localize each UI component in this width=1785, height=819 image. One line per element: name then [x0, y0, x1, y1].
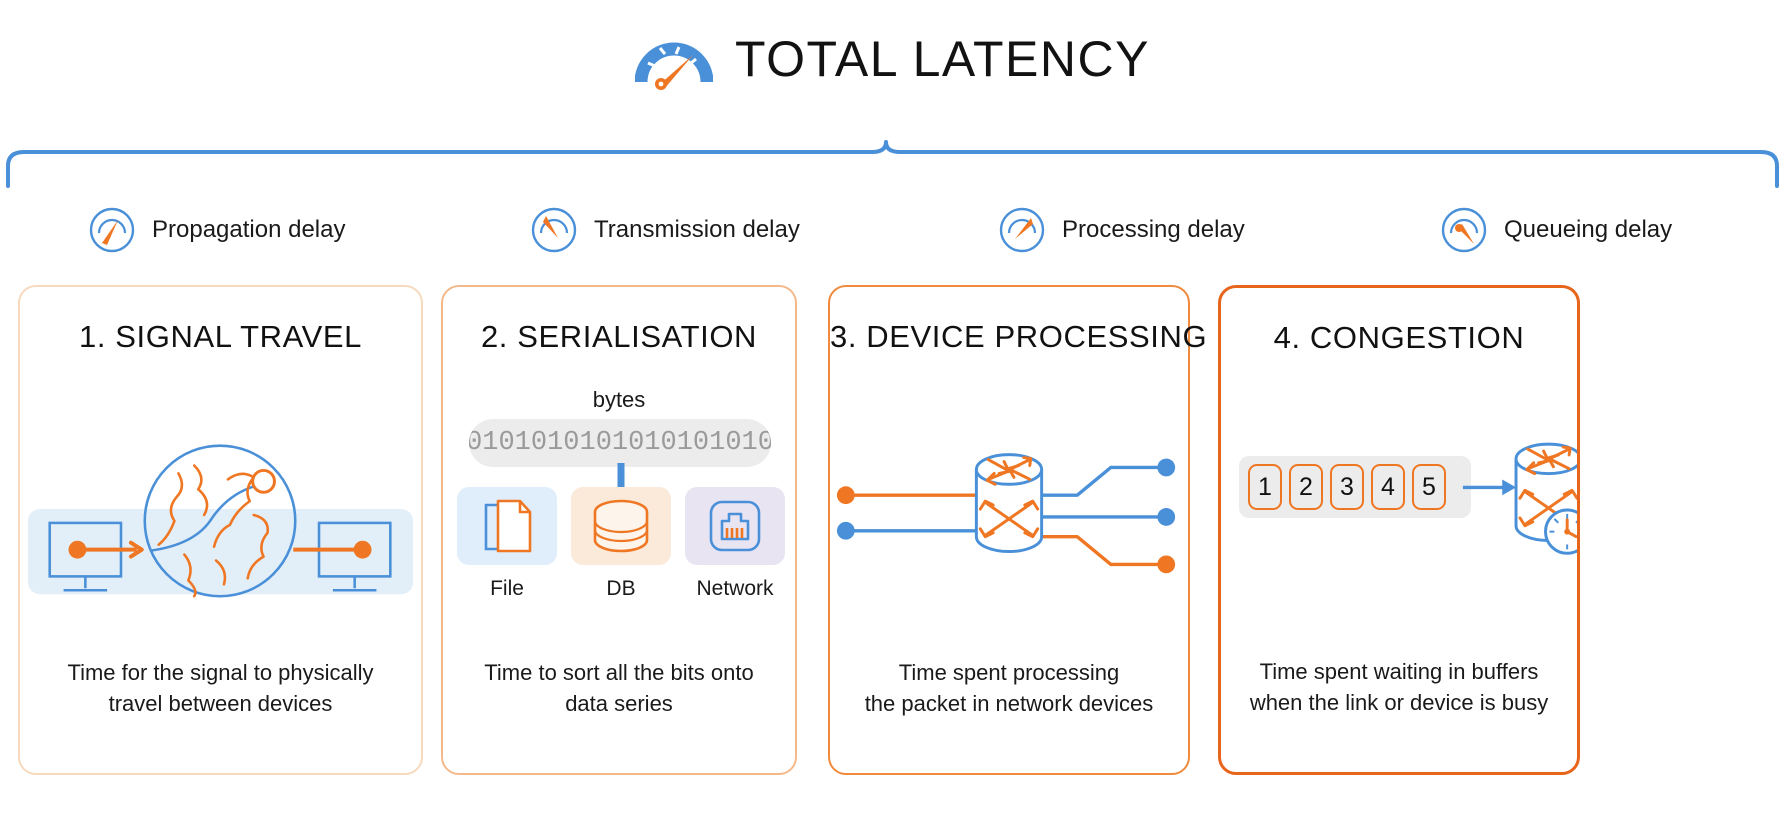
gauge-icon — [1440, 206, 1488, 254]
card-description: Time to sort all the bits ontodata serie… — [443, 657, 795, 719]
delay-item-queueing[interactable]: Queueing delay — [1440, 202, 1672, 258]
tile-box — [685, 487, 785, 565]
tile-box — [457, 487, 557, 565]
card-device-processing[interactable]: 3. DEVICE PROCESSING — [828, 285, 1190, 775]
tile-network[interactable]: Network — [685, 487, 785, 601]
tile-label: Network — [685, 577, 785, 601]
card-serialisation[interactable]: 2. SERIALISATION bytes 01010101010101010… — [441, 285, 797, 775]
document-icon — [480, 495, 534, 557]
tile-box — [571, 487, 671, 565]
page-header: TOTAL LATENCY — [0, 28, 1785, 90]
card-title: 4. CONGESTION — [1221, 320, 1577, 356]
gauge-icon — [88, 206, 136, 254]
card-title: 2. SERIALISATION — [443, 319, 795, 355]
grouping-brace — [0, 140, 1785, 188]
storage-tiles: File DB — [457, 487, 783, 601]
delay-label: Propagation delay — [152, 216, 345, 244]
card-description: Time for the signal to physicallytravel … — [20, 657, 421, 719]
card-title: 1. SIGNAL TRAVEL — [20, 319, 421, 355]
router-with-links-illustration — [830, 395, 1188, 625]
delay-item-processing[interactable]: Processing delay — [998, 202, 1245, 258]
delay-label: Queueing delay — [1504, 216, 1672, 244]
globe-with-two-monitors-illustration — [20, 405, 421, 625]
tile-label: File — [457, 577, 557, 601]
infographic-root: TOTAL LATENCY Propagation delay Transmis… — [0, 0, 1785, 819]
delay-item-transmission[interactable]: Transmission delay — [530, 202, 800, 258]
page-title: TOTAL LATENCY — [735, 30, 1150, 88]
tile-db[interactable]: DB — [571, 487, 671, 601]
database-icon — [590, 496, 652, 556]
delay-item-propagation[interactable]: Propagation delay — [88, 202, 345, 258]
queue-into-router-illustration — [1221, 396, 1577, 626]
card-description: Time spent waiting in bufferswhen the li… — [1221, 656, 1577, 718]
delay-label: Transmission delay — [594, 216, 800, 244]
ethernet-port-icon — [706, 497, 764, 555]
delay-legend-row: Propagation delay Transmission delay Pro… — [0, 202, 1785, 262]
speedometer-gauge-icon — [635, 28, 713, 90]
card-description: Time spent processingthe packet in netwo… — [830, 657, 1188, 719]
delay-label: Processing delay — [1062, 216, 1245, 244]
card-congestion[interactable]: 4. CONGESTION 1 2 3 4 5 — [1218, 285, 1580, 775]
card-signal-travel[interactable]: 1. SIGNAL TRAVEL — [18, 285, 423, 775]
bits-stream: 0101010101010101010 — [469, 419, 771, 467]
tile-label: DB — [571, 577, 671, 601]
gauge-icon — [530, 206, 578, 254]
card-title: 3. DEVICE PROCESSING — [830, 319, 1188, 355]
tile-file[interactable]: File — [457, 487, 557, 601]
bytes-label: bytes — [443, 387, 795, 413]
gauge-icon — [998, 206, 1046, 254]
